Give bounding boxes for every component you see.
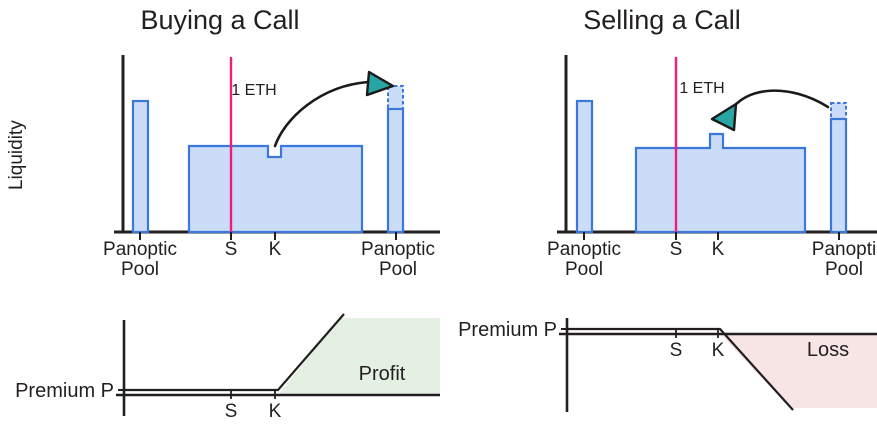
transfer-arrow-curve [730,91,828,112]
x-label-strike-k: K [269,401,282,422]
liquidity-bar-right-pool [831,119,846,232]
panel-title-buying: Buying a Call [140,5,299,35]
x-label-left-pool-line2: Pool [565,259,603,280]
panel-title-selling: Selling a Call [583,5,741,35]
x-label-spot-s: S [670,340,683,361]
x-label-strike-k: K [712,340,725,361]
selling-a-call-liquidity-chart: Selling a Call 1 ETH Panoptic Pool S K P… [440,0,877,292]
loss-region-label: Loss [807,339,849,361]
liquidity-bar-left-pool [133,101,148,232]
liquidity-bar-right-pool-dashed-cap [831,103,846,119]
figure-root: Buying a Call Liquidity 1 ETH Panoptic P… [0,0,877,426]
x-label-right-pool-line2: Pool [825,259,863,280]
x-label-strike-k: K [712,239,725,260]
buying-a-call-payoff-chart: Premium P S K Profit [0,292,440,426]
loss-region [720,334,877,408]
x-label-right-pool-line2: Pool [379,259,417,280]
liquidity-range-with-notch [189,146,362,232]
x-label-spot-s: S [670,239,683,260]
x-label-left-pool-line1: Panoptic [103,239,177,260]
liquidity-range-with-bump [636,134,805,232]
buying-a-call-liquidity-chart: Buying a Call Liquidity 1 ETH Panoptic P… [0,0,440,292]
liquidity-bar-left-pool [577,101,592,232]
x-label-right-pool-line1: Panopti [812,239,876,260]
x-label-strike-k: K [269,239,282,260]
x-label-left-pool-line1: Panoptic [547,239,621,260]
transfer-arrowhead-icon [712,104,736,130]
selling-a-call-payoff-chart: Premium P S K Loss [440,292,877,426]
profit-region-label: Profit [359,363,406,385]
y-axis-label-liquidity: Liquidity [6,120,27,190]
x-label-spot-s: S [225,239,238,260]
transfer-arrow-curve [275,82,368,146]
x-label-spot-s: S [225,401,238,422]
liquidity-bar-right-pool [388,109,403,232]
transfer-amount-label: 1 ETH [679,80,724,97]
transfer-amount-label: 1 ETH [231,82,276,99]
premium-label: Premium P [458,319,557,341]
x-label-right-pool-line1: Panoptic [361,239,435,260]
liquidity-bar-right-pool-dashed-cap [388,86,403,109]
premium-label: Premium P [15,380,114,402]
x-label-left-pool-line2: Pool [121,259,159,280]
